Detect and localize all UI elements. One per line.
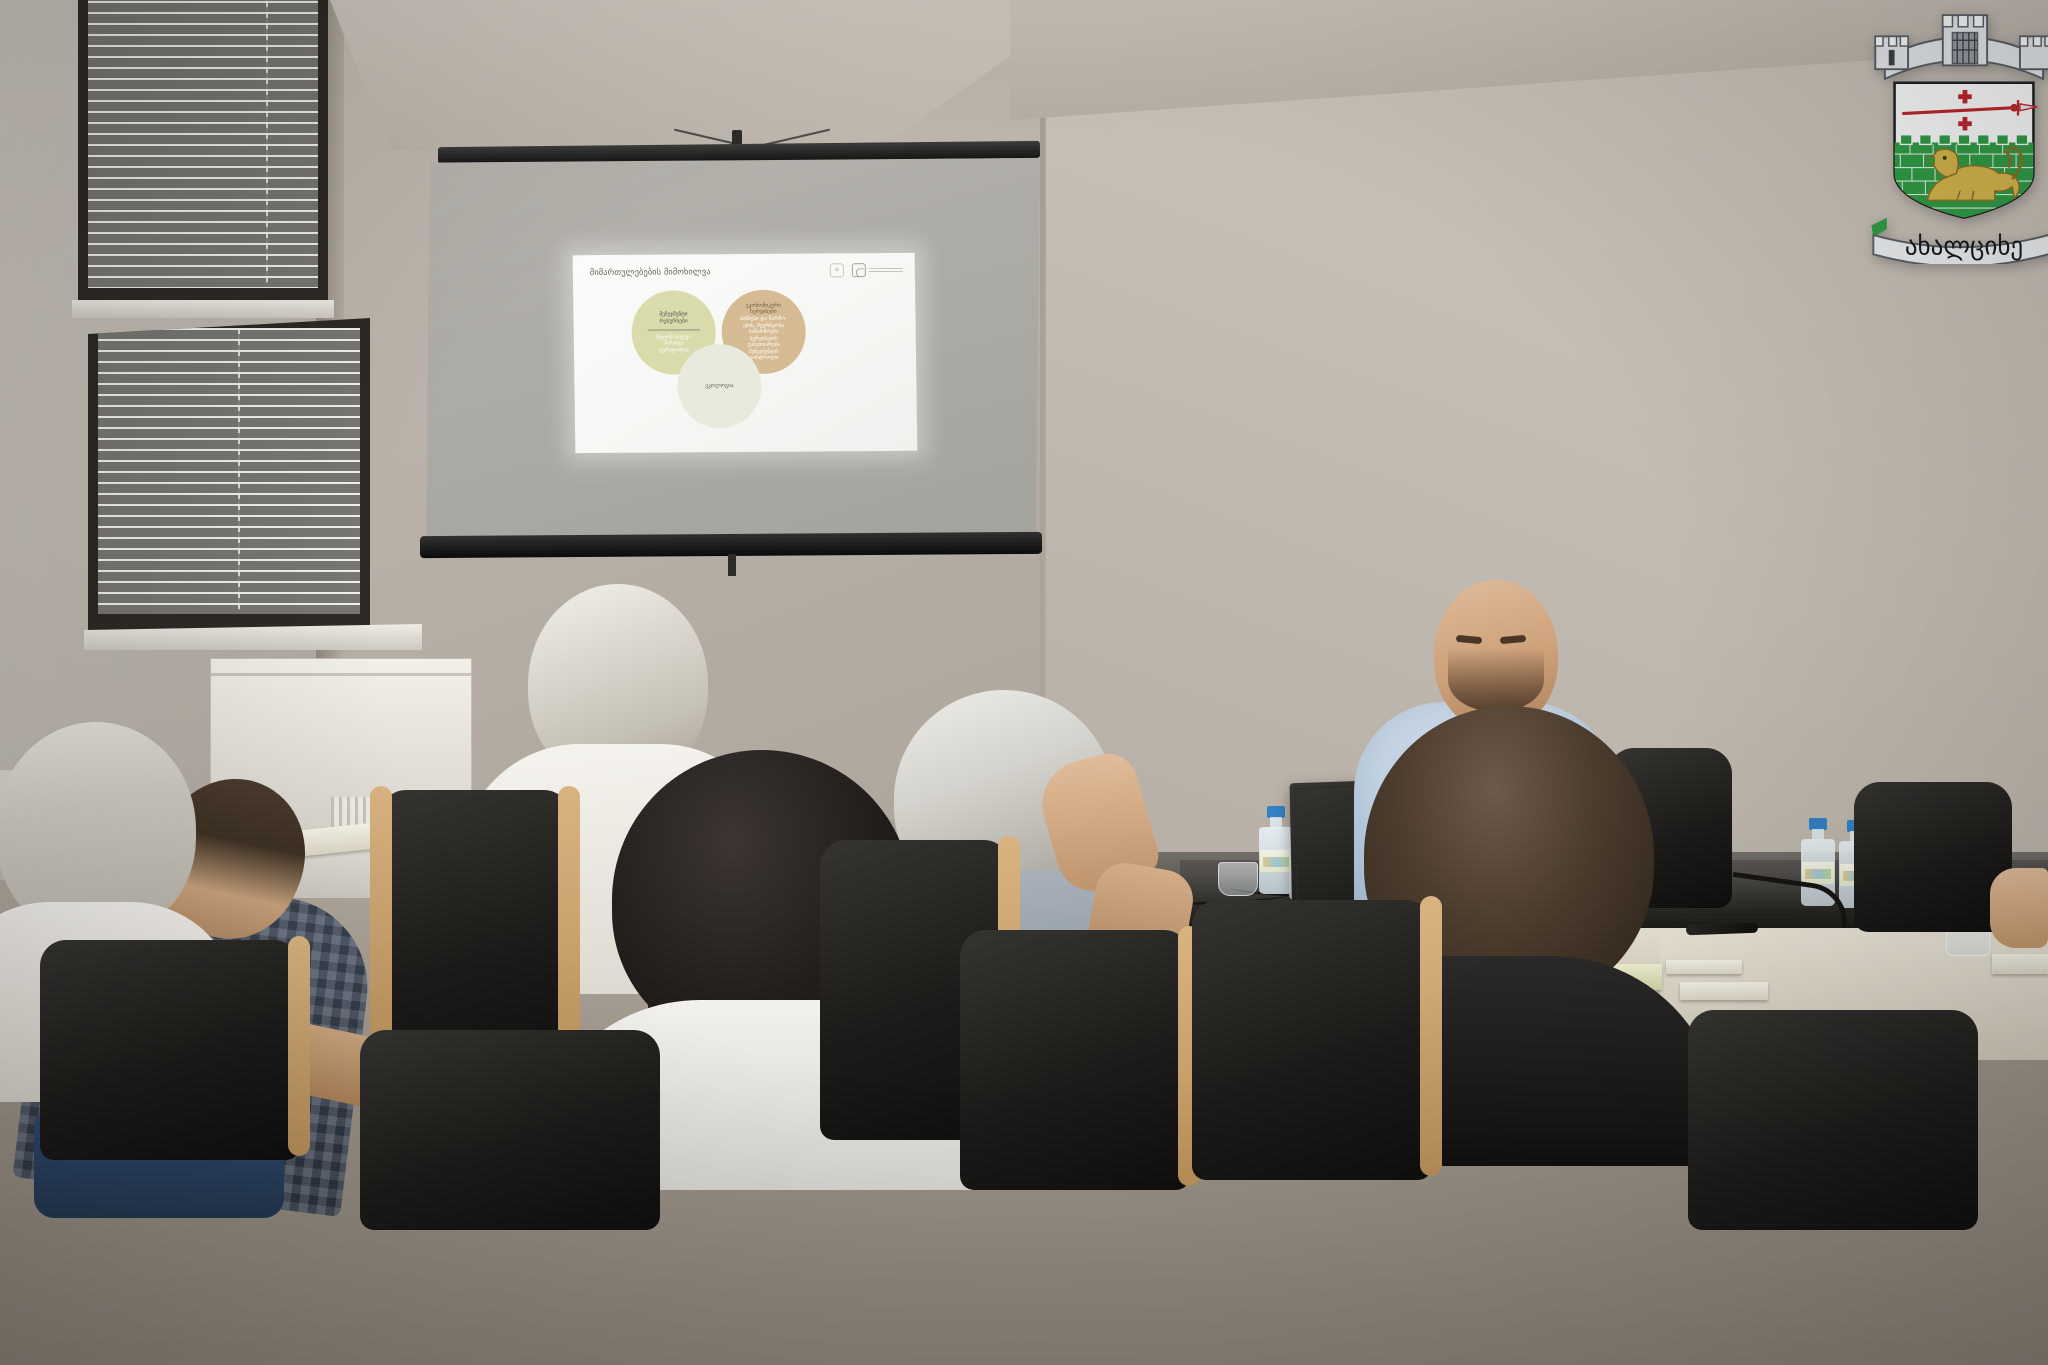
mural-crown-icon (1875, 15, 2048, 79)
partner-wordmark-logo (852, 263, 903, 277)
conference-chair[interactable] (1854, 782, 2012, 932)
bubble-heading: ეკონომიკურისერვისები (740, 302, 787, 316)
drinking-glass[interactable] (1218, 862, 1258, 896)
bubble-heading: ეკოლოგია (699, 383, 739, 390)
bubble-divider (648, 329, 700, 330)
coat-of-arms: ახალციხე (1866, 0, 2048, 264)
green-wall (1893, 135, 2038, 222)
person-hand-right-edge (1990, 868, 2048, 948)
blind-cord[interactable] (266, 0, 268, 284)
conference-chair[interactable] (40, 940, 300, 1160)
bottle-label (1802, 862, 1834, 884)
notepad[interactable] (1992, 954, 2048, 974)
right-edge-hand (1990, 868, 2048, 948)
conference-chair[interactable] (1192, 900, 1432, 1180)
conference-chair[interactable] (1688, 1010, 1978, 1230)
window-upper-left (78, 0, 328, 310)
slide-logo-group: ⚙ (830, 263, 903, 278)
conference-chair[interactable] (960, 930, 1190, 1190)
blind-cord[interactable] (238, 330, 240, 610)
projected-slide: მიმართულებების მიმოხილვა ⚙ მენეჯმენტირეს… (573, 253, 918, 453)
ministry-seal-logo: ⚙ (830, 263, 844, 277)
bubble-heading: მენეჯმენტირესურსები (653, 311, 693, 325)
slide-title: მიმართულებების მიმოხილვა (590, 266, 711, 277)
slide-bubble-ecology: ეკოლოგია (677, 344, 762, 429)
banner: ახალციხე (1871, 218, 2048, 264)
venetian-blinds-icon[interactable] (88, 0, 318, 288)
conference-room-photo: ახალციხე მიმართულებების მიმოხილვა ⚙ მენ (0, 0, 2048, 1365)
chair-frame (1420, 896, 1442, 1176)
presenter-beard (1448, 648, 1544, 712)
heater-seam (211, 673, 471, 676)
conference-chair[interactable] (360, 1030, 660, 1230)
window-lower-left (88, 318, 370, 636)
screen-pull-handle[interactable] (728, 554, 736, 576)
window-sill (72, 300, 334, 318)
screen-surface: მიმართულებების მიმოხილვა ⚙ მენეჯმენტირეს… (426, 158, 1040, 540)
coat-banner-text: ახალციხე (1905, 231, 2023, 260)
partner-mark-icon (852, 263, 866, 277)
bubble-body: წყლის სატევიმართვატერიტორია (651, 334, 696, 354)
partner-wordmark (869, 268, 903, 272)
chair-frame (288, 936, 310, 1156)
projection-screen: მიმართულებების მიმოხილვა ⚙ მენეჯმენტირეს… (420, 128, 1044, 568)
venetian-blinds-icon[interactable] (98, 328, 360, 614)
